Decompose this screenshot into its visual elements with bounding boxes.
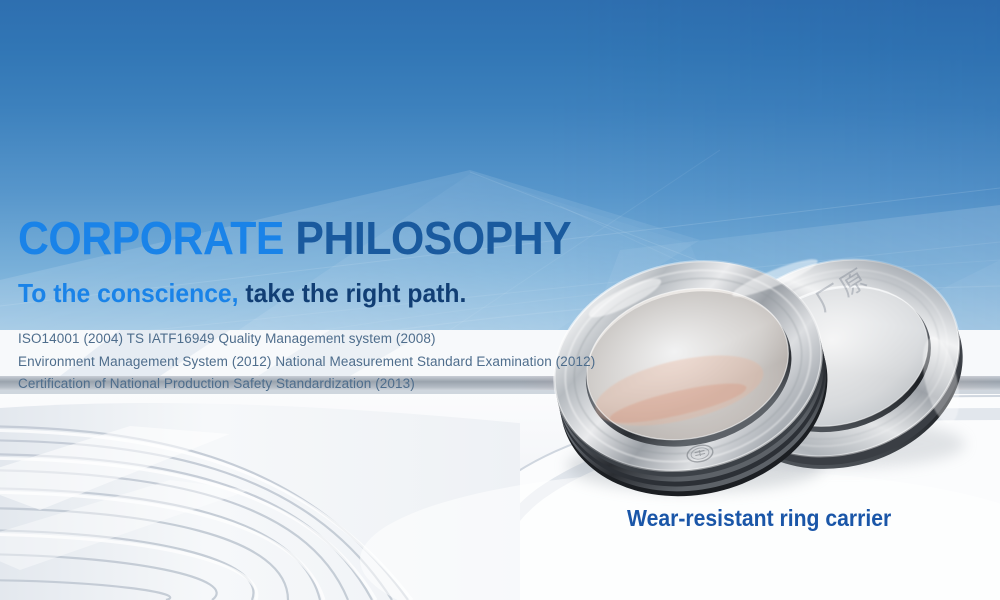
certification-line-2: Environment Management System (2012) Nat…	[18, 351, 638, 374]
certification-line-3: Certification of National Production Saf…	[18, 373, 638, 396]
subtitle-part-one: To the conscience,	[18, 278, 239, 308]
headline-word-corporate: CORPORATE	[18, 212, 284, 264]
subtitle: To the conscience, take the right path.	[18, 278, 607, 308]
headline-copy-block: CORPORATE PHILOSOPHY To the conscience, …	[18, 212, 638, 396]
certification-line-1: ISO14001 (2004) TS IATF16949 Quality Man…	[18, 328, 638, 351]
headline-word-philosophy: PHILOSOPHY	[295, 212, 571, 264]
certification-list: ISO14001 (2004) TS IATF16949 Quality Man…	[18, 328, 638, 396]
product-caption: Wear-resistant ring carrier	[627, 505, 891, 531]
subtitle-part-two: take the right path.	[245, 278, 466, 308]
corporate-philosophy-banner: 厂原 CORPORATE PHILOSOPHY To the conscienc…	[0, 0, 1000, 600]
page-title: CORPORATE PHILOSOPHY	[18, 212, 595, 264]
